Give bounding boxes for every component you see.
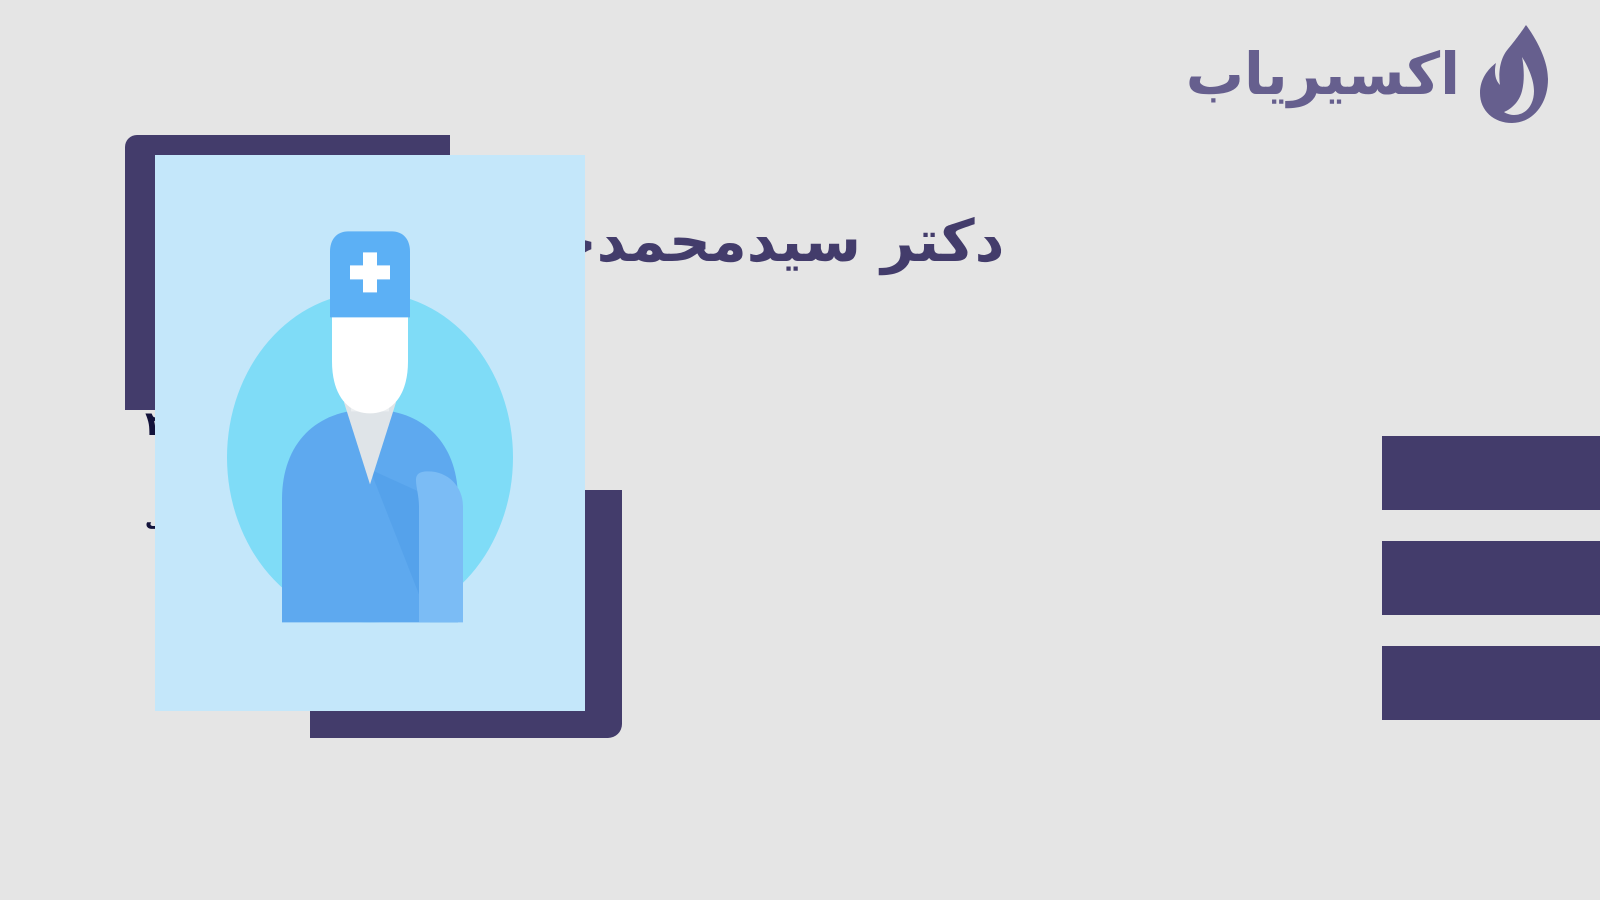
doctor-photo-card (155, 155, 585, 711)
decorative-bar (1382, 541, 1600, 615)
brand-logo[interactable]: اکسیریاب (1186, 22, 1560, 132)
flame-droplet-icon (1474, 23, 1560, 131)
doctor-avatar-icon (220, 209, 520, 639)
brand-name: اکسیریاب (1186, 45, 1460, 109)
decorative-bars (1341, 436, 1600, 720)
decorative-bar (1382, 646, 1600, 720)
decorative-bar (1382, 436, 1600, 510)
profile-card-stage: دکتر سیدمحمدجعفر مؤمنی ف پزشک عمومی ۲۳۵۵… (0, 0, 1600, 900)
doctor-artwork (120, 130, 630, 750)
